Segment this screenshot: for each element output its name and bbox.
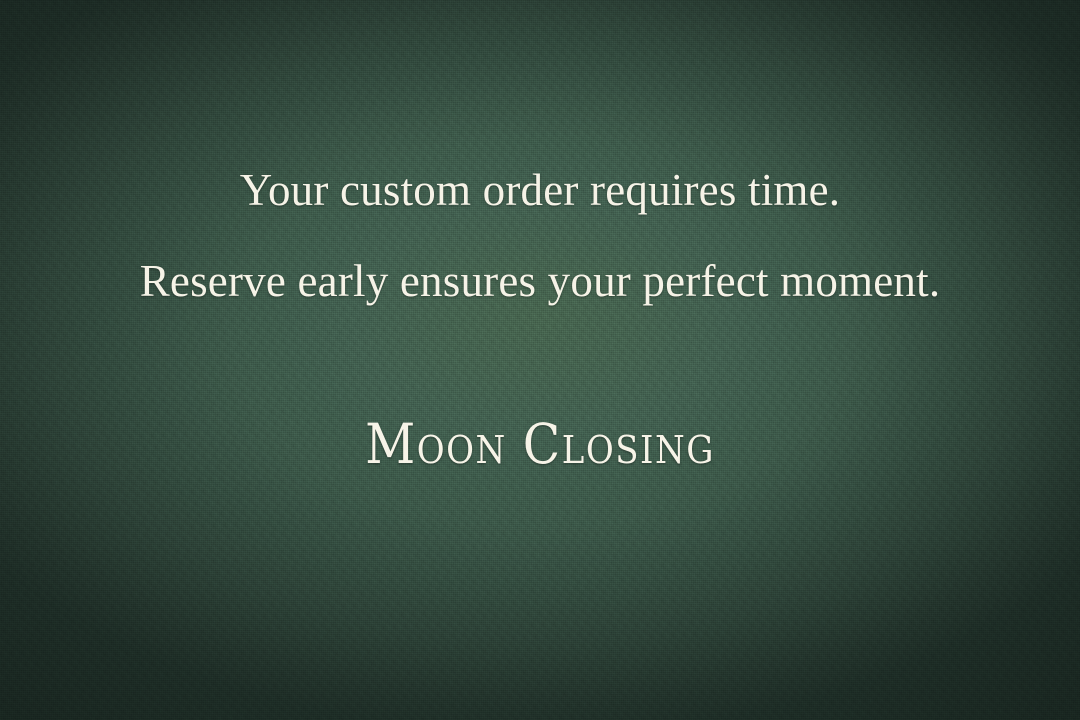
- tagline-line-2: Reserve early ensures your perfect momen…: [0, 259, 1080, 304]
- promo-poster: Your custom order requires time. Reserve…: [0, 0, 1080, 720]
- brand-logotype: MoonClosing: [0, 417, 1080, 472]
- tagline-line-1: Your custom order requires time.: [0, 168, 1080, 213]
- brand-word-closing: Closing: [523, 417, 715, 472]
- poster-content: Your custom order requires time. Reserve…: [0, 0, 1080, 720]
- brand-word-moon: Moon: [365, 417, 507, 472]
